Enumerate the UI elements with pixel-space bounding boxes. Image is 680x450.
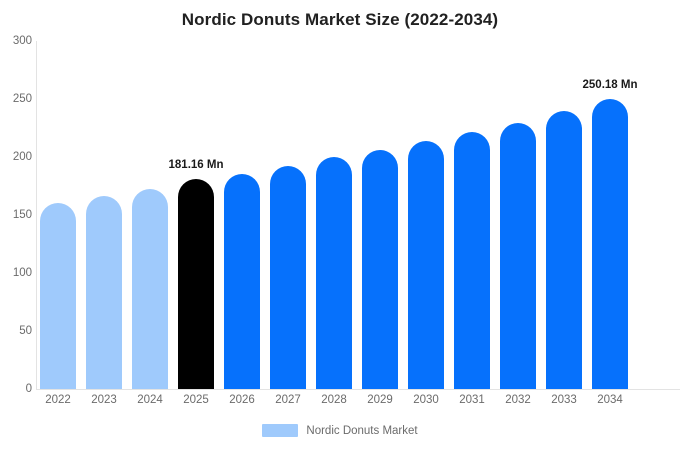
- x-axis-tick-2033: 2033: [546, 394, 582, 406]
- bar-2022[interactable]: [40, 203, 76, 389]
- x-axis-tick-2024: 2024: [132, 394, 168, 406]
- x-axis-tick-2026: 2026: [224, 394, 260, 406]
- legend-item[interactable]: Nordic Donuts Market: [262, 424, 417, 437]
- x-axis-tick-2031: 2031: [454, 394, 490, 406]
- chart-container: Nordic Donuts Market Size (2022-2034) 05…: [0, 0, 680, 450]
- bar-2026[interactable]: [224, 174, 260, 389]
- bar-2032[interactable]: [500, 123, 536, 389]
- x-axis-tick-2023: 2023: [86, 394, 122, 406]
- x-axis-tick-2027: 2027: [270, 394, 306, 406]
- bar-2028[interactable]: [316, 157, 352, 389]
- x-axis-tick-2030: 2030: [408, 394, 444, 406]
- bar-2023[interactable]: [86, 196, 122, 389]
- bar-2033[interactable]: [546, 111, 582, 389]
- x-axis-tick-2022: 2022: [40, 394, 76, 406]
- bar-2031[interactable]: [454, 132, 490, 389]
- legend-label: Nordic Donuts Market: [306, 425, 417, 437]
- bar-2027[interactable]: [270, 166, 306, 389]
- x-axis-tick-2029: 2029: [362, 394, 398, 406]
- legend-swatch-icon: [262, 424, 298, 437]
- bar-2034[interactable]: [592, 99, 628, 389]
- bar-value-label-2034: 250.18 Mn: [583, 79, 638, 91]
- x-axis-tick-2032: 2032: [500, 394, 536, 406]
- chart-legend: Nordic Donuts Market: [0, 424, 680, 437]
- bars-layer: 181.16 Mn250.18 Mn: [0, 0, 680, 390]
- x-axis-tick-2034: 2034: [592, 394, 628, 406]
- bar-2025[interactable]: [178, 179, 214, 389]
- x-axis: 2022202320242025202620272028202920302031…: [0, 394, 680, 414]
- x-axis-tick-2028: 2028: [316, 394, 352, 406]
- x-axis-tick-2025: 2025: [178, 394, 214, 406]
- bar-value-label-2025: 181.16 Mn: [169, 159, 224, 171]
- bar-2024[interactable]: [132, 189, 168, 389]
- bar-2030[interactable]: [408, 141, 444, 389]
- bar-2029[interactable]: [362, 150, 398, 389]
